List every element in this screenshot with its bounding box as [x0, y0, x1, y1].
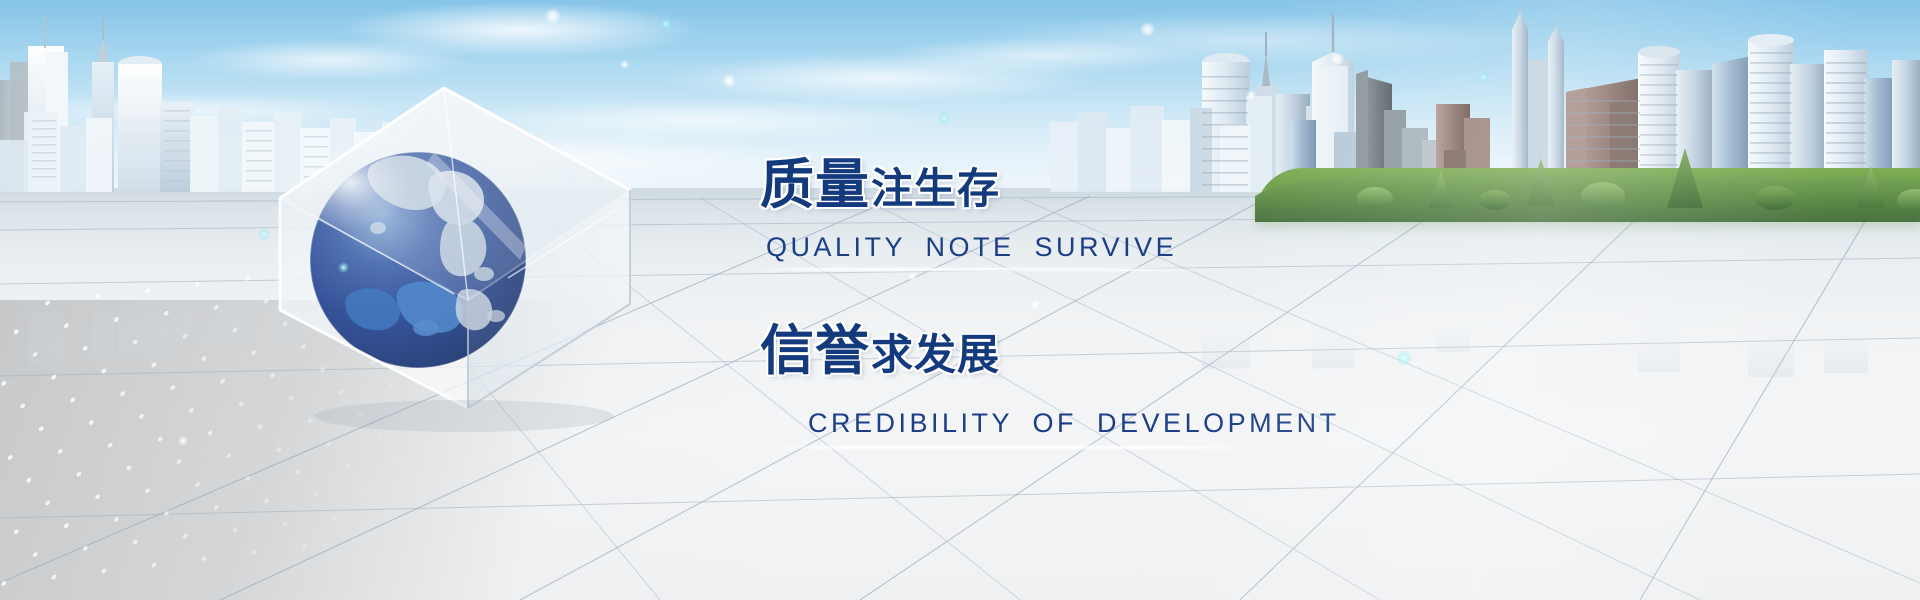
glass-cube-globe-graphic	[258, 78, 678, 468]
subtitle-block-credibility: CREDIBILITY OF DEVELOPMENT	[760, 408, 1520, 464]
headline-chinese-quality: 质量注生存	[760, 158, 1520, 212]
subtitle-english-quality: QUALITY NOTE SURVIVE	[766, 232, 1520, 263]
headline-chinese-quality-strong: 质量	[760, 155, 870, 215]
subtitle-english-credibility: CREDIBILITY OF DEVELOPMENT	[808, 408, 1520, 439]
headline-chinese-credibility: 信誉求发展	[760, 324, 1520, 378]
headline-copy-group: 质量注生存 QUALITY NOTE SURVIVE 信誉求发展 CREDIBI…	[760, 158, 1520, 464]
subtitle-block-quality: QUALITY NOTE SURVIVE	[760, 232, 1520, 288]
headline-block-credibility: 信誉求发展	[760, 324, 1520, 408]
headline-block-quality: 质量注生存	[760, 158, 1520, 232]
hero-banner: 质量注生存 QUALITY NOTE SURVIVE 信誉求发展 CREDIBI…	[0, 0, 1920, 600]
headline-chinese-quality-rest: 注生存	[871, 165, 1000, 212]
subtitle-underline	[740, 268, 1210, 271]
headline-chinese-credibility-rest: 求发展	[871, 331, 1000, 378]
headline-chinese-credibility-strong: 信誉	[760, 321, 870, 381]
subtitle-underline	[750, 446, 1270, 449]
